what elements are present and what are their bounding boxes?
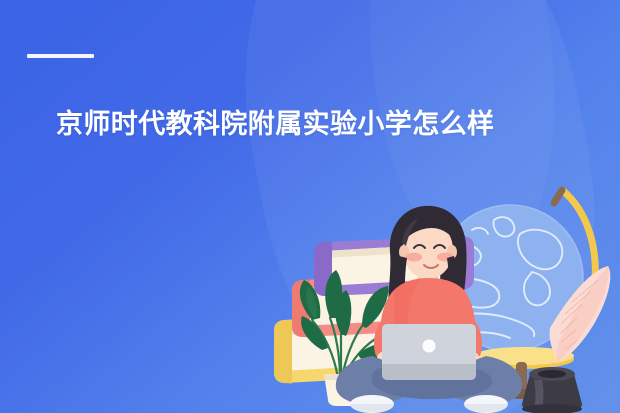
- accent-rule: [27, 54, 94, 58]
- laptop-group: [382, 324, 476, 380]
- student-studying-illustration: [262, 178, 620, 413]
- page-title: 京师时代教科院附属实验小学怎么样: [56, 101, 536, 148]
- article-cover-card: 京师时代教科院附属实验小学怎么样: [0, 0, 620, 413]
